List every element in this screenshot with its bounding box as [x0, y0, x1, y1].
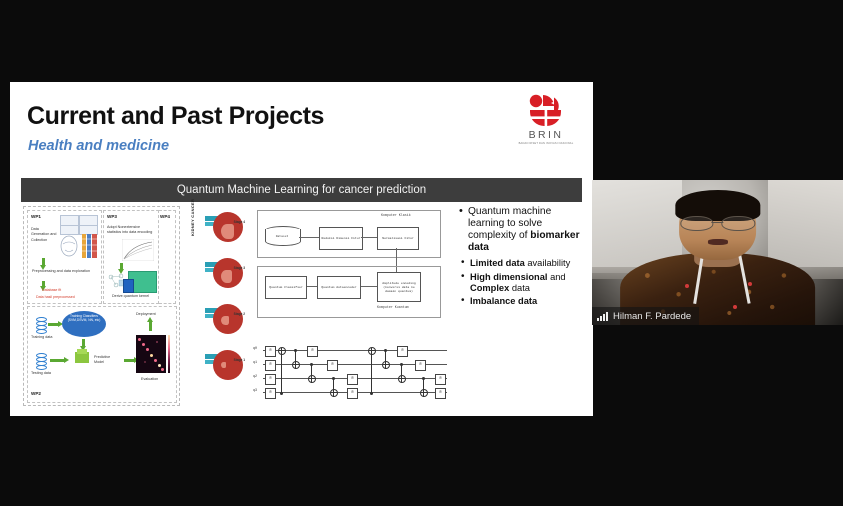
participant-name: Hilman F. Pardede: [613, 311, 691, 322]
brin-logo: BRIN BADAN RISET DAN INOVASI NASIONAL: [517, 94, 575, 152]
cnot-target: [420, 389, 428, 397]
kidney-stage-label: Stage 3: [234, 266, 245, 270]
qubit-wire: [263, 350, 447, 351]
cnot-control: [310, 363, 313, 366]
participant-name-badge: Hilman F. Pardede: [592, 307, 699, 325]
participant-video-tile[interactable]: Hilman F. Pardede: [592, 180, 843, 325]
presentation-slide: Current and Past Projects Health and med…: [10, 82, 593, 416]
eyeglasses-icon: [680, 216, 755, 229]
cnot-control: [384, 349, 387, 352]
quantum-computer-caption: Komputer Kuantum: [377, 305, 409, 309]
section-band-title: Quantum Machine Learning for cancer pred…: [21, 178, 582, 202]
bullet-main: Quantum machine learning to solve comple…: [457, 206, 581, 255]
cnot-target: [330, 389, 338, 397]
wp2-arrow-down: [82, 339, 85, 347]
dataset-label: Dataset: [265, 235, 299, 238]
quantum-circuit-diagram: q0 q1 q2 q3 R R R R R R: [253, 344, 449, 402]
qubit-label: q3: [253, 389, 257, 393]
eyeglass-bridge: [711, 222, 723, 223]
wp1-arrow-1: [42, 258, 45, 266]
brin-wordmark: BRIN: [517, 129, 575, 141]
rotation-gate: R: [307, 346, 318, 357]
kidney-body-icon: [213, 258, 243, 288]
wp4-box: WP4: [159, 210, 176, 304]
qubit-label: q0: [253, 347, 257, 351]
wp2-arrow-train: [48, 323, 58, 326]
feature-reduction-box: Reduksi Dimensi Fitur: [319, 227, 363, 250]
rotation-gate: R: [265, 388, 276, 399]
wp2-training-dna-icon: [36, 317, 45, 333]
wp2-confusion-matrix: [136, 335, 166, 373]
slide-content: WP1 Data Generation and Collection: [21, 204, 582, 407]
kidney-stage-item: Stage 1: [205, 344, 245, 388]
workpackage-panel: WP1 Data Generation and Collection: [23, 206, 180, 406]
wp3-blue-panel: [123, 279, 134, 293]
slide-subtitle: Health and medicine: [28, 138, 169, 154]
normalization-label: Normalisasi Fitur: [382, 236, 414, 240]
wp4-label: WP4: [160, 214, 170, 219]
brin-tagline: BADAN RISET DAN INOVASI NASIONAL: [517, 142, 575, 146]
bullet-sub-bold: High dimensional: [470, 272, 547, 282]
screen-root: Current and Past Projects Health and med…: [0, 0, 843, 506]
bullet-list: Quantum machine learning to solve comple…: [457, 206, 581, 307]
wp3-curve-chart: [122, 239, 154, 261]
wp1-gel-illustration: [82, 234, 98, 258]
cnot-link: [281, 350, 282, 394]
kidney-stage-item: Stage 2: [205, 298, 245, 342]
wp1-thumb-c: [60, 225, 79, 235]
qubit-label: q2: [253, 375, 257, 379]
cnot-target: [292, 361, 300, 369]
wp1-label: WP1: [31, 214, 41, 219]
wp1-output-1: Database fit: [42, 288, 61, 293]
rotation-gate: R: [397, 346, 408, 357]
wp2-label: WP2: [31, 391, 41, 396]
bullet-sub-bold: Limited data: [470, 258, 525, 268]
kidney-axis-label: KIDNEY CANCER: [190, 199, 195, 236]
kidney-tumor-icon: [221, 270, 232, 283]
kidney-tumor-icon: [221, 362, 226, 368]
kidney-stage-label: Stage 2: [234, 312, 245, 316]
kidney-body-icon: [213, 212, 243, 242]
bullet-sub-bold: Imbalance data: [470, 296, 537, 306]
kidney-body-icon: [213, 350, 243, 380]
wp1-step2: Preprocessing and data exploration: [32, 269, 90, 274]
kidney-stage-label: Stage 4: [234, 220, 245, 224]
bullet-sub: High dimensional and Complex data: [457, 272, 581, 294]
cnot-target: [382, 361, 390, 369]
connector-line: [361, 237, 377, 238]
brin-logo-icon: [523, 94, 569, 128]
wp3-arrow-1: [120, 263, 123, 270]
rotation-gate: R: [415, 360, 426, 371]
slide-title: Current and Past Projects: [27, 102, 324, 131]
kidney-stage-label: Stage 1: [234, 358, 245, 362]
wp2-testing-dna-icon: [36, 353, 45, 369]
rotation-gate: R: [347, 388, 358, 399]
video-wall-right: [768, 180, 843, 267]
wp2-box: Training data Training Classifiers (SVM,…: [27, 306, 177, 403]
wp1-arrow-2: [42, 281, 45, 287]
kidney-body-icon: [213, 304, 243, 334]
connector-line: [299, 237, 319, 238]
quantum-classifier-label: Quantum Classifier: [269, 285, 302, 289]
bullet-sub: Limited data availability: [457, 258, 581, 269]
wp2-model-label: Predictive Model: [94, 355, 120, 366]
kidney-tumor-icon: [221, 316, 229, 325]
kidney-stage-column: KIDNEY CANCER Stage 4 Stage 3: [191, 206, 247, 402]
wp2-arrow-deploy: [149, 321, 152, 331]
bullet-sub-plain-2: data: [509, 283, 530, 293]
bullet-sub-bold-2: Complex: [470, 283, 509, 293]
cnot-target: [398, 375, 406, 383]
cnot-control: [370, 392, 373, 395]
lanyard-badge-dot: [748, 282, 752, 286]
wp3-step1: Adopt Nonextensive statistics into data …: [107, 225, 155, 236]
wp2-arrow-eval: [124, 359, 134, 362]
wp2-colorbar: [168, 335, 170, 373]
quantum-autoencoder-label: Quantum Autoencoder: [321, 285, 356, 289]
participant-mouth: [707, 239, 727, 244]
wp1-face-illustration: [58, 235, 80, 257]
kidney-stage-item: Stage 4: [205, 206, 245, 250]
amplitude-encoding-box: Amplitude encoding (konversi data ke dom…: [377, 272, 421, 302]
connector-line: [359, 286, 377, 287]
signal-bars-icon: [597, 312, 608, 321]
cnot-control: [280, 392, 283, 395]
classical-computer-caption: Komputer Klasik: [381, 213, 411, 217]
brin-logo-mark: [523, 94, 569, 128]
quantum-classifier-box: Quantum Classifier: [265, 276, 307, 299]
cnot-control: [332, 377, 335, 380]
wp3-label: WP3: [107, 214, 117, 219]
wp2-model-cube-icon: [75, 349, 89, 365]
wp1-output-2: Data hasil preprocessed: [36, 295, 75, 300]
rotation-gate: R: [265, 346, 276, 357]
wp2-arrow-test: [50, 359, 64, 362]
section-band: Quantum Machine Learning for cancer pred…: [21, 178, 582, 202]
cnot-target: [368, 347, 376, 355]
cnot-target: [308, 375, 316, 383]
eyeglass-lens-right: [722, 216, 756, 231]
rotation-gate: R: [435, 388, 446, 399]
rotation-gate: R: [265, 360, 276, 371]
wp3-step2: Derive quantum kernel: [112, 294, 158, 299]
cnot-control: [294, 349, 297, 352]
cnot-link: [371, 350, 372, 394]
wp3-box: WP3 Adopt Nonextensive statistics into d…: [103, 210, 159, 304]
amplitude-encoding-label: Amplitude encoding (konversi data ke dom…: [378, 281, 420, 294]
bullet-sub-plain: availability: [525, 258, 570, 268]
bullet-sub-plain: and: [547, 272, 565, 282]
quantum-autoencoder-box: Quantum Autoencoder: [317, 276, 361, 299]
rotation-gate: R: [347, 374, 358, 385]
cnot-control: [422, 377, 425, 380]
cnot-target: [278, 347, 286, 355]
kidney-stage-item: Stage 3: [205, 252, 245, 296]
rotation-gate: R: [435, 374, 446, 385]
wp2-evaluation-label: Evaluation: [141, 377, 158, 382]
wp1-box: WP1 Data Generation and Collection: [27, 210, 102, 304]
dataset-cylinder: Dataset: [265, 226, 299, 248]
wp2-classifier-node: Training Classifiers (SVM,DSVM, NN, etc): [62, 311, 106, 337]
normalization-box: Normalisasi Fitur: [377, 227, 419, 250]
eyeglass-lens-left: [680, 216, 714, 231]
wp2-classifier-label: Training Classifiers (SVM,DSVM, NN, etc): [62, 311, 106, 323]
qubit-label: q1: [253, 361, 257, 365]
lanyard-badge-dot: [733, 305, 737, 309]
bullet-sub: Imbalance data: [457, 296, 581, 307]
feature-reduction-label: Reduksi Dimensi Fitur: [322, 236, 361, 240]
rotation-gate: R: [327, 360, 338, 371]
wp1-step1: Data Generation and Collection: [31, 227, 57, 243]
kidney-tumor-icon: [221, 224, 234, 239]
cnot-control: [400, 363, 403, 366]
wp2-deployment-label: Deployment: [136, 312, 156, 317]
rotation-gate: R: [265, 374, 276, 385]
wp2-testing-label: Testing data: [31, 371, 51, 376]
wp2-training-label: Training data: [31, 335, 52, 340]
